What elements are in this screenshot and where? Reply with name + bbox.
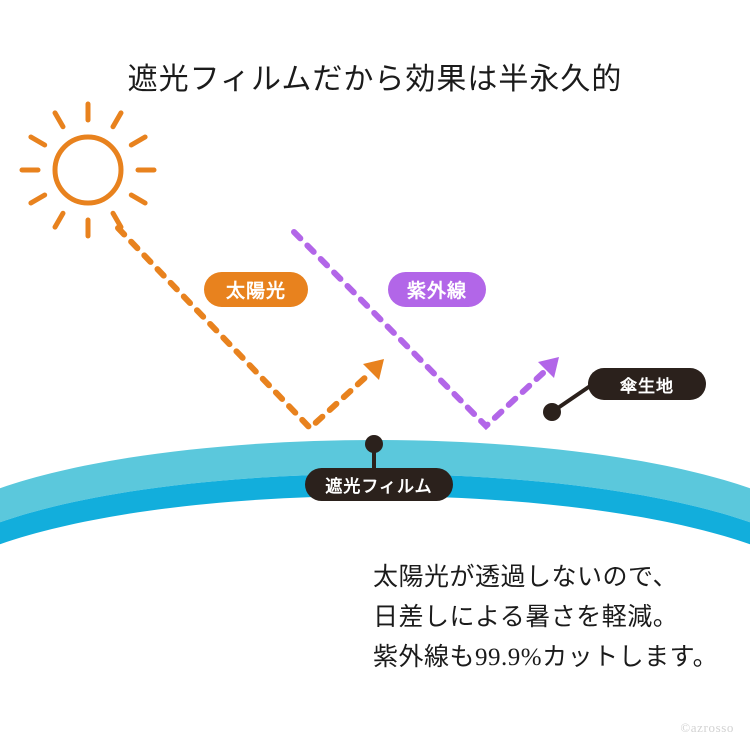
infographic-canvas: 遮光フィルムだから効果は半永久的 太陽光 紫外線 傘生地 遮光フィルム 太陽光が… — [0, 0, 750, 750]
description-line-1: 太陽光が透過しないので、 — [373, 558, 718, 598]
description-block: 太陽光が透過しないので、 日差しによる暑さを軽減。 紫外線も99.9%カットしま… — [373, 558, 718, 678]
sun-icon — [22, 104, 154, 236]
label-blackout-film: 遮光フィルム — [305, 468, 453, 501]
sunlight-ray-path — [118, 228, 384, 428]
watermark: ©azrosso — [680, 720, 734, 736]
label-sunlight: 太陽光 — [204, 272, 308, 307]
description-line-2: 日差しによる暑さを軽減。 — [373, 598, 718, 638]
label-umbrella-fabric: 傘生地 — [588, 368, 706, 400]
uv-ray-path — [294, 232, 559, 426]
description-line-3: 紫外線も99.9%カットします。 — [373, 638, 718, 678]
label-uv: 紫外線 — [388, 272, 486, 307]
page-title: 遮光フィルムだから効果は半永久的 — [0, 54, 750, 98]
